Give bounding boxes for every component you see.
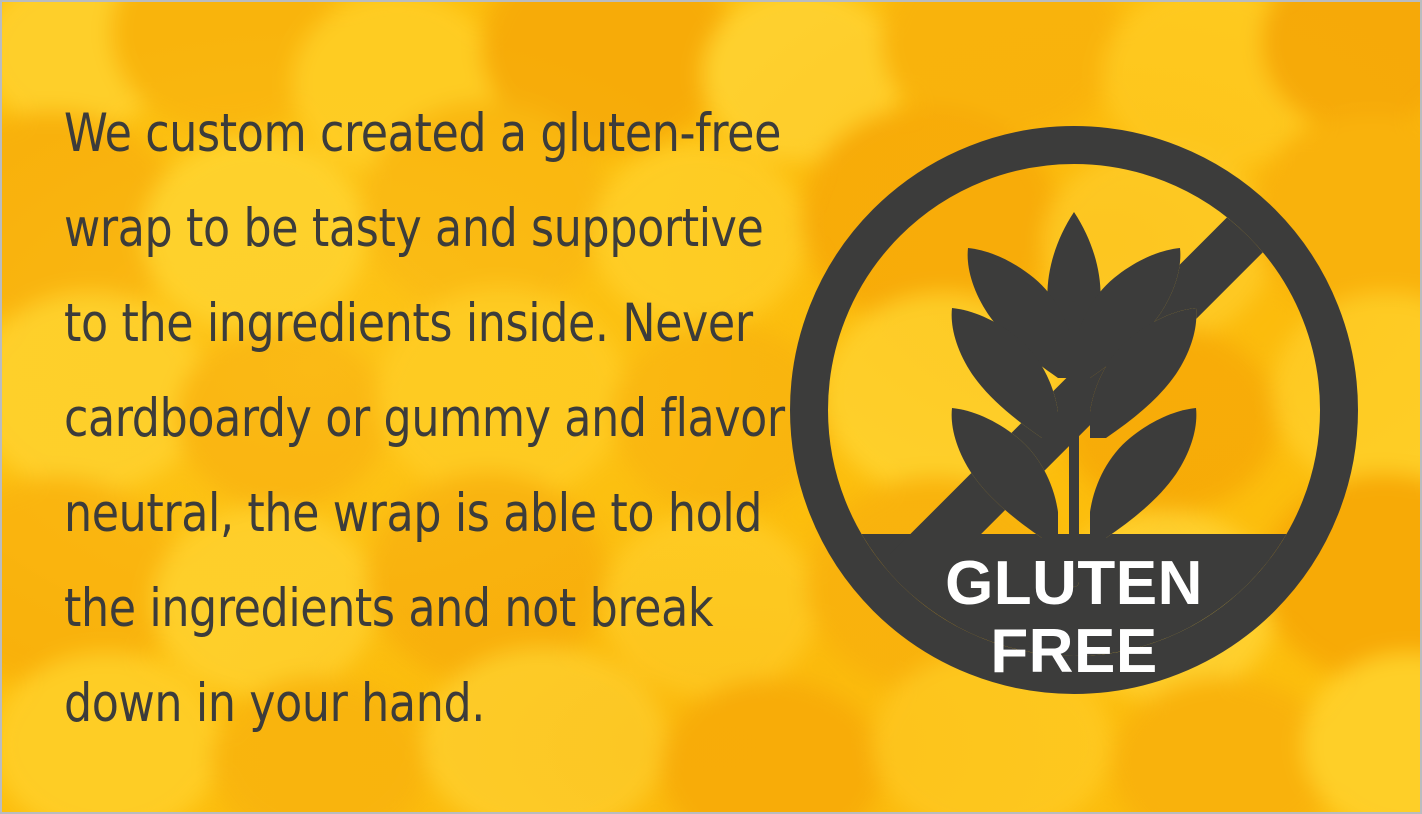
paragraph-line: to the ingredients inside. Never: [64, 276, 728, 371]
badge-label-free: FREE: [990, 617, 1157, 686]
paragraph-line: the ingredients and not break: [64, 561, 728, 656]
paragraph-line: wrap to be tasty and supportive: [64, 181, 728, 276]
paragraph-line: down in your hand.: [64, 656, 728, 751]
paragraph-line: We custom created a gluten-free: [64, 86, 728, 181]
paragraph-line: neutral, the wrap is able to hold: [64, 466, 728, 561]
description-paragraph: We custom created a gluten-free wrap to …: [64, 86, 778, 751]
promo-panel: We custom created a gluten-free wrap to …: [0, 0, 1422, 814]
gluten-free-badge: GLUTEN FREE: [790, 126, 1358, 694]
wheat-stalk-icon: [952, 212, 1197, 587]
paragraph-line: cardboardy or gummy and flavor: [64, 371, 728, 466]
badge-label-gluten: GLUTEN: [945, 549, 1203, 618]
